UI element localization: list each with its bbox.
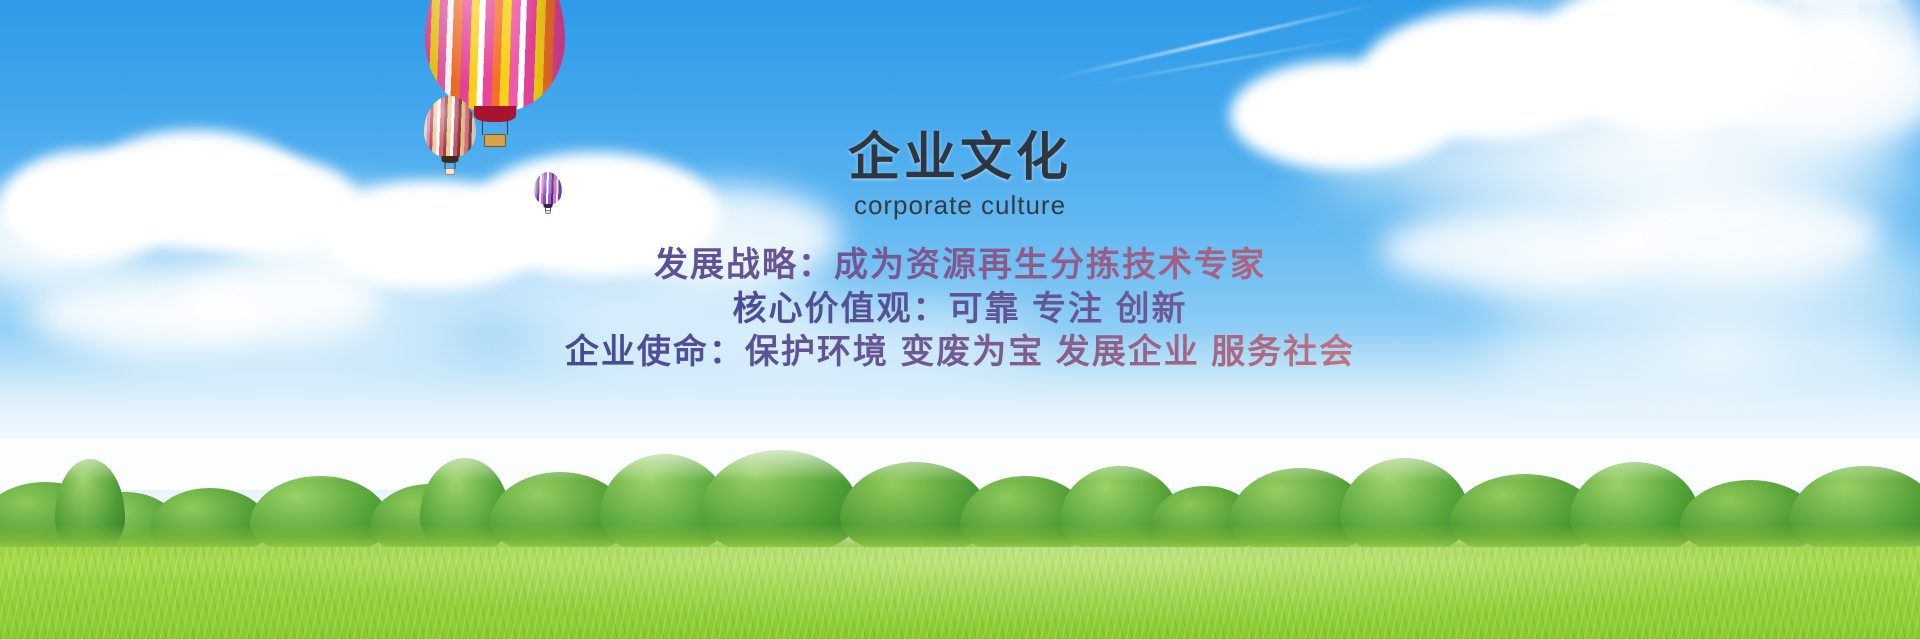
page-title: 企业文化 [0, 132, 1920, 184]
corporate-culture-banner: 企业文化 corporate culture 发展战略：成为资源再生分拣技术专家… [0, 0, 1920, 639]
statement-list: 发展战略：成为资源再生分拣技术专家 核心价值观：可靠 专注 创新 企业使命：保护… [0, 244, 1920, 375]
statement-core-values: 核心价值观：可靠 专注 创新 [0, 288, 1920, 332]
grass-field [0, 547, 1920, 639]
statement-company-mission: 企业使命：保护环境 变废为宝 发展企业 服务社会 [0, 331, 1920, 375]
landscape-ground [0, 439, 1920, 639]
banner-text-block: 企业文化 corporate culture 发展战略：成为资源再生分拣技术专家… [0, 132, 1920, 375]
page-subtitle: corporate culture [0, 192, 1920, 218]
grass-blend [0, 525, 1920, 547]
statement-development-strategy: 发展战略：成为资源再生分拣技术专家 [0, 244, 1920, 288]
